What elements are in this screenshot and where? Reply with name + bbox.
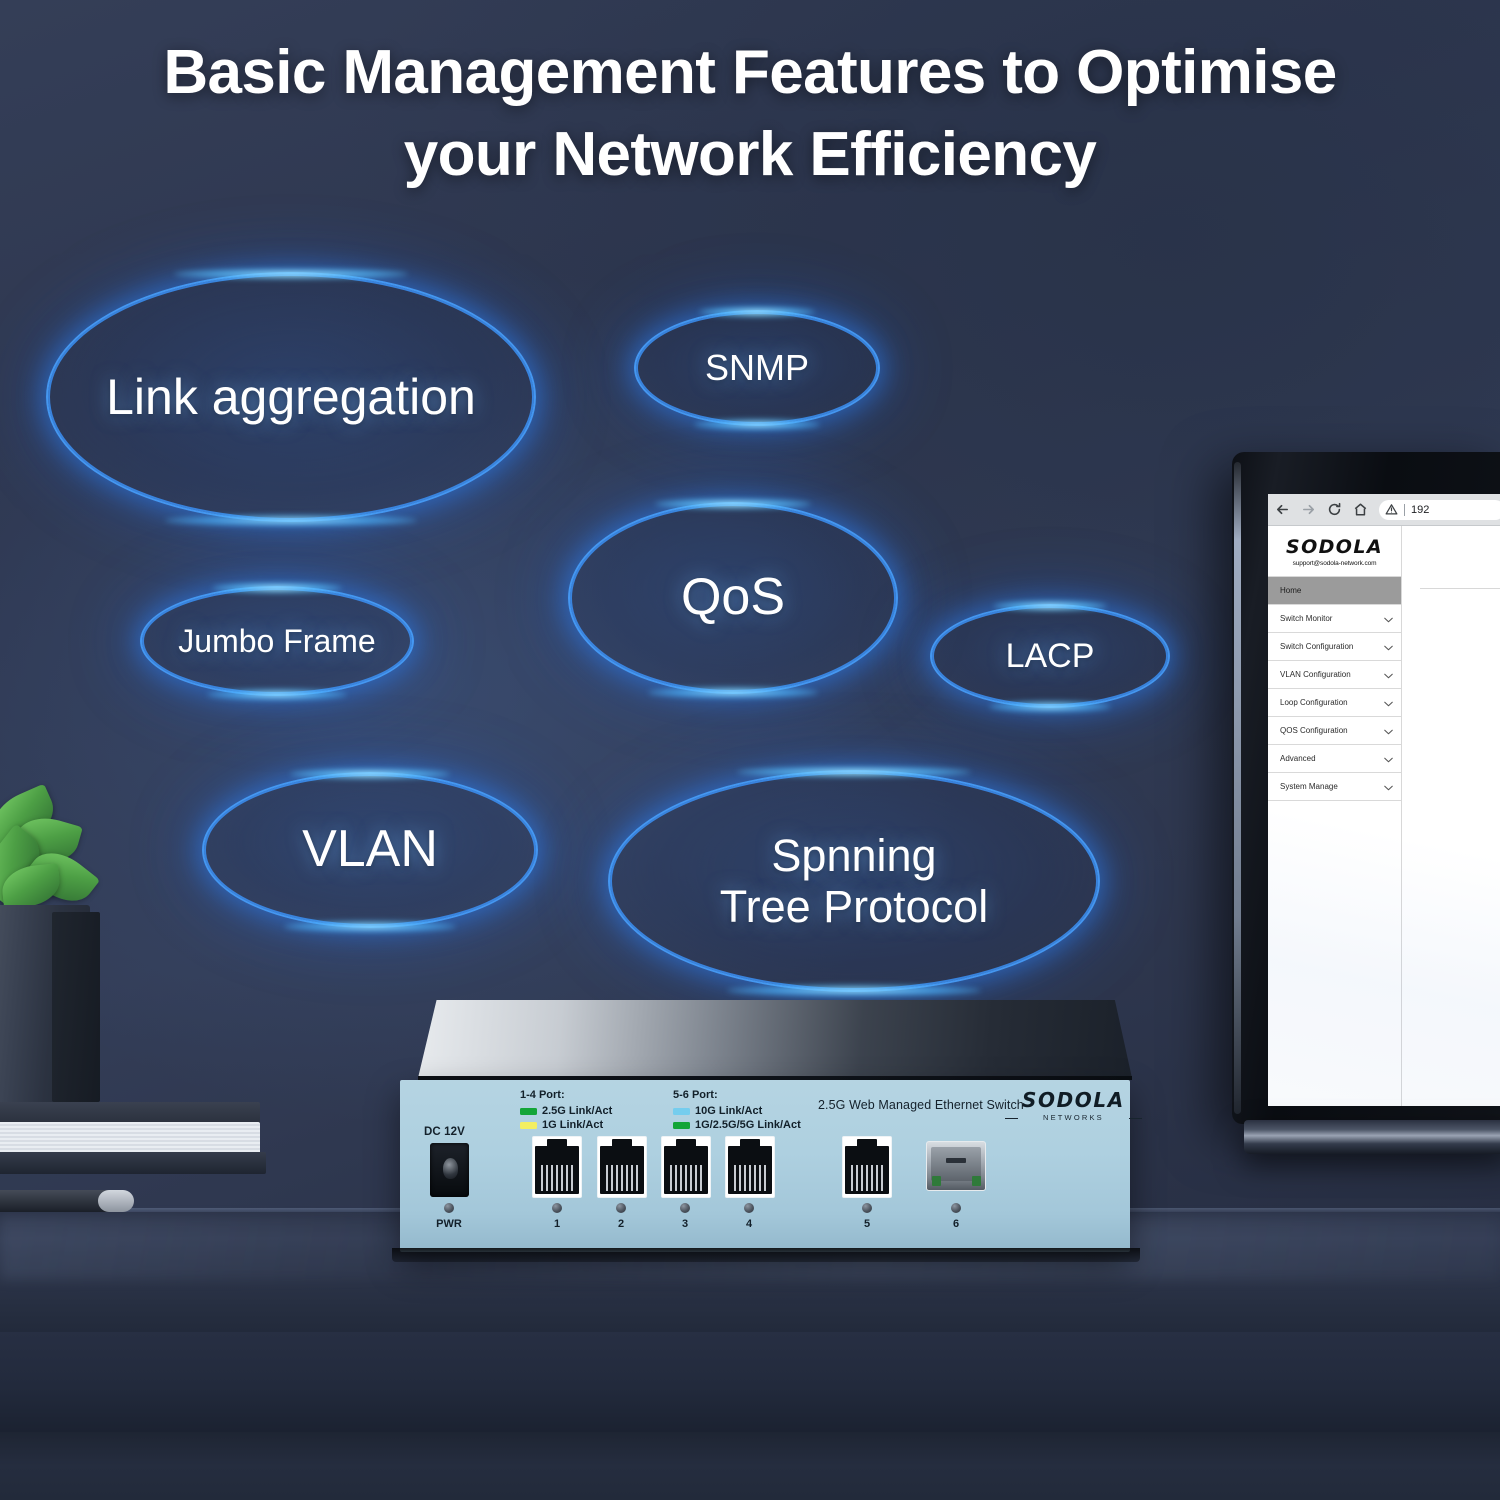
legend-header-1-4: 1-4 Port: — [520, 1089, 612, 1101]
sfp-latch-right — [972, 1176, 981, 1186]
port-label-4: 4 — [729, 1218, 769, 1230]
port-led-4 — [744, 1203, 754, 1213]
home-icon[interactable] — [1353, 502, 1368, 517]
pwr-led-label: PWR — [429, 1218, 469, 1230]
page-title-line-2: your Network Efficiency — [60, 114, 1440, 196]
chevron-down-icon[interactable] — [1384, 728, 1393, 734]
feature-label-vlan: VLAN — [302, 820, 438, 879]
rj45-port-1[interactable] — [532, 1136, 582, 1198]
feature-label-link-aggregation: Link aggregation — [106, 369, 476, 426]
sidebar-item-label: Switch Monitor — [1280, 614, 1332, 623]
chevron-down-icon[interactable] — [1384, 616, 1393, 622]
chevron-down-icon[interactable] — [1384, 672, 1393, 678]
legend-row: 2.5G Link/Act — [520, 1105, 612, 1117]
warning-triangle-icon[interactable] — [1385, 503, 1398, 516]
rj45-pins — [670, 1165, 702, 1191]
rj45-port-2[interactable] — [597, 1136, 647, 1198]
sfp-latch-left — [932, 1176, 941, 1186]
legend-header-5-6: 5-6 Port: — [673, 1089, 801, 1101]
port-led-5 — [862, 1203, 872, 1213]
sfp-slot — [946, 1158, 966, 1163]
sidebar-item-loop-configuration[interactable]: Loop Configuration — [1268, 689, 1401, 717]
chevron-down-icon[interactable] — [1384, 756, 1393, 762]
desk-base — [0, 1432, 1500, 1500]
sidebar-item-system-manage[interactable]: System Manage — [1268, 773, 1401, 801]
feature-bubble-lacp: LACP — [930, 604, 1170, 708]
feature-label-snmp: SNMP — [705, 347, 809, 388]
legend-row: 10G Link/Act — [673, 1105, 801, 1117]
legend-row: 1G Link/Act — [520, 1119, 612, 1131]
led-color-chip-cyan — [673, 1108, 690, 1115]
legend-label: 2.5G Link/Act — [542, 1105, 612, 1117]
port-led-3 — [680, 1203, 690, 1213]
sidebar-item-label: Loop Configuration — [1280, 698, 1348, 707]
dc-power-label: DC 12V — [424, 1126, 465, 1138]
sidebar-item-label: Advanced — [1280, 754, 1316, 763]
feature-bubble-vlan: VLAN — [202, 772, 538, 928]
legend-label: 1G/2.5G/5G Link/Act — [695, 1119, 801, 1131]
rj45-pins — [606, 1165, 638, 1191]
port-label-3: 3 — [665, 1218, 705, 1230]
rj45-port-3[interactable] — [661, 1136, 711, 1198]
legend-label: 10G Link/Act — [695, 1105, 762, 1117]
feature-label-qos: QoS — [681, 568, 785, 627]
led-color-chip-green — [673, 1122, 690, 1129]
port-label-2: 2 — [601, 1218, 641, 1230]
address-bar[interactable]: 192 — [1379, 500, 1500, 520]
laptop-screen: 192 SODOLA support@sodola-network.com Ho… — [1268, 494, 1500, 1106]
plant-pot-side — [52, 912, 100, 1102]
sidebar-item-vlan-configuration[interactable]: VLAN Configuration — [1268, 661, 1401, 689]
rj45-pins — [851, 1165, 883, 1191]
led-color-chip-green — [520, 1108, 537, 1115]
port-label-5: 5 — [847, 1218, 887, 1230]
switch-brand-logo: SODOLA NETWORKS — [1022, 1090, 1125, 1122]
feature-label-lacp: LACP — [1006, 637, 1095, 676]
pen-cap — [98, 1190, 134, 1212]
legend-row: 1G/2.5G/5G Link/Act — [673, 1119, 801, 1131]
feature-bubble-snmp: SNMP — [634, 310, 880, 426]
port-label-1: 1 — [537, 1218, 577, 1230]
book-stack-bottom — [0, 1152, 266, 1174]
page-title: Basic Management Features to Optimise yo… — [0, 32, 1500, 197]
chevron-down-icon[interactable] — [1384, 784, 1393, 790]
address-bar-divider — [1404, 504, 1405, 516]
switch-web-ui: SODOLA support@sodola-network.com Home S… — [1268, 526, 1500, 1106]
feature-label-jumbo-frame: Jumbo Frame — [178, 623, 375, 659]
rj45-pins — [734, 1165, 766, 1191]
feature-bubble-qos: QoS — [568, 502, 898, 694]
sidebar-item-label: QOS Configuration — [1280, 726, 1348, 735]
sodola-logo: SODOLA — [1274, 538, 1395, 557]
sidebar-item-advanced[interactable]: Advanced — [1268, 745, 1401, 773]
sidebar-item-switch-monitor[interactable]: Switch Monitor — [1268, 605, 1401, 633]
sidebar-item-home[interactable]: Home — [1268, 577, 1401, 605]
led-color-chip-yellow — [520, 1122, 537, 1129]
laptop-base — [1244, 1120, 1500, 1154]
switch-model-label: 2.5G Web Managed Ethernet Switch — [818, 1098, 1024, 1112]
page-title-line-1: Basic Management Features to Optimise — [163, 38, 1336, 107]
support-email: support@sodola-network.com — [1274, 560, 1395, 567]
webui-content-pane — [1402, 526, 1500, 1106]
port-led-2 — [616, 1203, 626, 1213]
webui-sidebar: SODOLA support@sodola-network.com Home S… — [1268, 526, 1402, 1106]
feature-label-spanning-tree-protocol: Spnning Tree Protocol — [720, 830, 988, 933]
chevron-down-icon[interactable] — [1384, 700, 1393, 706]
reload-icon[interactable] — [1327, 502, 1342, 517]
port-legend-5-6: 5-6 Port: 10G Link/Act 1G/2.5G/5G Link/A… — [673, 1089, 801, 1133]
rj45-pins — [541, 1165, 573, 1191]
product-feature-graphic: Basic Management Features to Optimise yo… — [0, 0, 1500, 1500]
brand-subtitle: NETWORKS — [1022, 1113, 1125, 1122]
arrow-left-icon[interactable] — [1275, 502, 1290, 517]
dc-power-pin — [443, 1158, 458, 1179]
sidebar-item-switch-configuration[interactable]: Switch Configuration — [1268, 633, 1401, 661]
pwr-led — [444, 1203, 454, 1213]
laptop-lid-highlight — [1234, 462, 1241, 1114]
port-led-6 — [951, 1203, 961, 1213]
port-led-1 — [552, 1203, 562, 1213]
switch-top-panel — [418, 1000, 1132, 1078]
feature-bubble-link-aggregation: Link aggregation — [46, 272, 536, 522]
browser-toolbar: 192 — [1268, 494, 1500, 526]
port-legend-1-4: 1-4 Port: 2.5G Link/Act 1G Link/Act — [520, 1089, 612, 1133]
sidebar-item-label: System Manage — [1280, 782, 1338, 791]
arrow-right-icon[interactable] — [1301, 502, 1316, 517]
port-label-6: 6 — [936, 1218, 976, 1230]
address-bar-url: 192 — [1411, 504, 1429, 516]
book-pages — [0, 1122, 260, 1156]
sidebar-item-label: Switch Configuration — [1280, 642, 1353, 651]
rj45-port-5[interactable] — [842, 1136, 892, 1198]
webui-logo-block: SODOLA support@sodola-network.com — [1268, 526, 1401, 577]
feature-bubble-spanning-tree-protocol: Spnning Tree Protocol — [608, 770, 1100, 992]
sidebar-item-qos-configuration[interactable]: QOS Configuration — [1268, 717, 1401, 745]
rj45-port-4[interactable] — [725, 1136, 775, 1198]
feature-bubble-jumbo-frame: Jumbo Frame — [140, 586, 414, 696]
legend-label: 1G Link/Act — [542, 1119, 603, 1131]
sidebar-item-label: VLAN Configuration — [1280, 670, 1351, 679]
content-divider — [1420, 588, 1500, 589]
chevron-down-icon[interactable] — [1384, 644, 1393, 650]
sidebar-item-label: Home — [1280, 586, 1301, 595]
switch-shadow — [392, 1248, 1140, 1262]
brand-name: SODOLA — [1022, 1090, 1125, 1110]
desk-front-panel — [0, 1332, 1500, 1432]
